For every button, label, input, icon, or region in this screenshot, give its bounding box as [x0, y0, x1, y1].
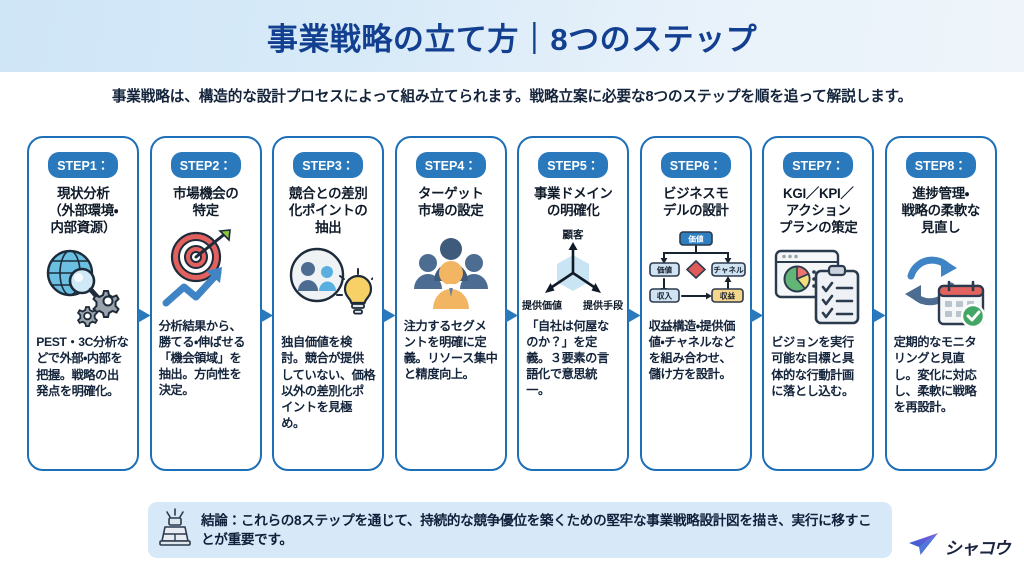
step-title-line: （外部環境・ — [48, 203, 118, 220]
step-card-cell: STEP4： ターゲット市場の設定 注力するセグメントを明確に定義。リソース集中… — [390, 136, 513, 476]
step-title-line: プランの策定 — [779, 220, 858, 237]
step-title: 進捗管理・戦略の柔軟な見直し — [897, 186, 984, 236]
people-group-target-icon — [397, 224, 505, 316]
svg-text:提供価値: 提供価値 — [522, 299, 562, 312]
step-description: 定期的なモニタリングと見直し。変化に対応し、柔軟に戦略を再設計。 — [887, 334, 995, 415]
step-title-line: 現状分析 — [48, 186, 118, 203]
svg-text:チャネル: チャネル — [713, 265, 744, 274]
step-card-cell: STEP7： KGI／KPI／アクションプランの策定 — [757, 136, 880, 476]
svg-text:価値: 価値 — [656, 264, 673, 274]
step-card-cell: STEP5： 事業ドメインの明確化 顧客 提供価値 提供手段 「自社は何屋なのか… — [512, 136, 635, 476]
step-title-line: 戦略の柔軟な — [901, 203, 980, 220]
step-title: 現状分析（外部環境・内部資源） — [44, 186, 122, 236]
step-title-line: 市場の設定 — [418, 203, 483, 220]
step-card-cell: STEP2： 市場機会の特定 分析結果から、勝てる・伸ばせる「機会領域」を抽出。… — [145, 136, 268, 476]
step-description: PEST・3C分析などで外部・内部を把握。戦略の出発点を明確化。 — [29, 334, 137, 399]
step-title: ターゲット市場の設定 — [414, 186, 487, 220]
infographic-page: 事業戦略の立て方｜8つのステップ 事業戦略は、構造的な設計プロセスによって組み立… — [0, 0, 1024, 571]
step-badge: STEP2： — [171, 152, 241, 178]
step-card-2[interactable]: STEP2： 市場機会の特定 分析結果から、勝てる・伸ばせる「機会領域」を抽出。… — [150, 136, 262, 471]
step-badge: STEP5： — [538, 152, 608, 178]
svg-text:収入: 収入 — [657, 290, 673, 300]
step-badge: STEP3： — [293, 152, 363, 178]
svg-text:収益: 収益 — [720, 290, 736, 300]
business-model-flowchart: 価値 価値 チャネル 収入 収益 — [644, 228, 748, 312]
dashboard-checklist-icon — [764, 240, 872, 332]
three-axis-domain-icon: 顧客 提供価値 提供手段 — [519, 224, 627, 316]
svg-text:顧客: 顧客 — [563, 228, 584, 241]
globe-magnifier-gears-icon — [29, 240, 137, 332]
svg-text:提供手段: 提供手段 — [583, 299, 624, 312]
step-title-line: アクション — [779, 203, 858, 220]
page-title: 事業戦略の立て方｜8つのステップ — [267, 14, 757, 59]
step-title-line: の明確化 — [534, 203, 613, 220]
step-description: ビジョンを実行可能な目標と具体的な行動計画に落とし込む。 — [764, 334, 872, 399]
svg-text:価値: 価値 — [687, 233, 704, 243]
business-model-flow-icon: 価値 価値 チャネル 収入 収益 — [642, 224, 750, 316]
step-badge: STEP6： — [661, 152, 731, 178]
lighthouse-beacon-icon — [158, 508, 192, 553]
conclusion-banner: 結論：これらの8ステップを通じて、持続的な競争優位を築くための堅牢な事業戦略設計… — [148, 502, 892, 558]
logo-text: シャコウ — [945, 534, 1010, 559]
step-title-line: 特定 — [173, 203, 238, 220]
step-card-1[interactable]: STEP1： 現状分析（外部環境・内部資源） PEST・3C分析な — [27, 136, 139, 471]
brand-logo: シャコウ — [906, 531, 1010, 562]
step-title: KGI／KPI／アクションプランの策定 — [775, 186, 862, 236]
step-card-7[interactable]: STEP7： KGI／KPI／アクションプランの策定 — [762, 136, 874, 471]
step-badge: STEP1： — [48, 152, 118, 178]
target-dart-growth-arrow-icon — [152, 224, 260, 316]
step-title: 市場機会の特定 — [169, 186, 242, 220]
step-card-cell: STEP8： 進捗管理・戦略の柔軟な見直し 定期的なモニタリングと見直し。変化に… — [880, 136, 1003, 476]
step-title-line: デルの設計 — [663, 203, 728, 220]
step-title-line: 抽出 — [289, 220, 368, 237]
step-card-cell: STEP1： 現状分析（外部環境・内部資源） PEST・3C分析な — [22, 136, 145, 476]
three-axis-diagram: 顧客 提供価値 提供手段 — [519, 227, 627, 313]
refresh-cycle-calendar-check-icon — [887, 240, 995, 332]
step-badge: STEP7： — [783, 152, 853, 178]
step-card-6[interactable]: STEP6： ビジネスモデルの設計 価値 価値 チャネル 収入 — [640, 136, 752, 471]
people-lightbulb-icon — [274, 240, 382, 332]
step-card-5[interactable]: STEP5： 事業ドメインの明確化 顧客 提供価値 提供手段 「自社は何屋なのか… — [517, 136, 629, 471]
step-title: ビジネスモデルの設計 — [659, 186, 732, 220]
subtitle-row: 事業戦略は、構造的な設計プロセスによって組み立てられます。戦略立案に必要な8つの… — [0, 72, 1024, 118]
step-card-8[interactable]: STEP8： 進捗管理・戦略の柔軟な見直し 定期的なモニタリングと見直し。変化に… — [885, 136, 997, 471]
step-title-line: 市場機会の — [173, 186, 238, 203]
step-title-line: 見直し — [901, 220, 980, 237]
steps-row: STEP1： 現状分析（外部環境・内部資源） PEST・3C分析な — [22, 136, 1002, 476]
step-card-cell: STEP6： ビジネスモデルの設計 価値 価値 チャネル 収入 — [635, 136, 758, 476]
step-card-4[interactable]: STEP4： ターゲット市場の設定 注力するセグメントを明確に定義。リソース集中… — [395, 136, 507, 471]
step-title-line: ビジネスモ — [663, 186, 728, 203]
step-title-line: ターゲット — [418, 186, 483, 203]
step-title: 事業ドメインの明確化 — [530, 186, 617, 220]
subtitle-text: 事業戦略は、構造的な設計プロセスによって組み立てられます。戦略立案に必要な8つの… — [112, 85, 912, 106]
step-badge: STEP8： — [906, 152, 976, 178]
step-description: 注力するセグメントを明確に定義。リソース集中と精度向上。 — [397, 318, 505, 383]
step-description: 収益構造・提供価値・チャネルなどを組み合わせ、儲け方を設計。 — [642, 318, 750, 383]
step-title: 競合との差別化ポイントの抽出 — [285, 186, 372, 236]
step-card-3[interactable]: STEP3： 競合との差別化ポイントの抽出 独自価値を検討。競合が — [272, 136, 384, 471]
step-title-line: 競合との差別 — [289, 186, 368, 203]
conclusion-text: 結論：これらの8ステップを通じて、持続的な競争優位を築くための堅牢な事業戦略設計… — [201, 511, 880, 550]
step-title-line: 化ポイントの — [289, 203, 368, 220]
step-title-line: KGI／KPI／ — [779, 186, 858, 203]
step-description: 独自価値を検討。競合が提供していない、価格以外の差別化ポイントを見極め。 — [274, 334, 382, 431]
step-title-line: 内部資源） — [48, 220, 118, 237]
paper-plane-icon — [906, 531, 940, 562]
step-badge: STEP4： — [416, 152, 486, 178]
step-description: 分析結果から、勝てる・伸ばせる「機会領域」を抽出。方向性を決定。 — [152, 318, 260, 399]
step-card-cell: STEP3： 競合との差別化ポイントの抽出 独自価値を検討。競合が — [267, 136, 390, 476]
step-title-line: 進捗管理・ — [901, 186, 980, 203]
step-description: 「自社は何屋なのか？」を定義。３要素の言語化で意思統一。 — [519, 318, 627, 399]
header-banner: 事業戦略の立て方｜8つのステップ — [0, 0, 1024, 72]
step-title-line: 事業ドメイン — [534, 186, 613, 203]
